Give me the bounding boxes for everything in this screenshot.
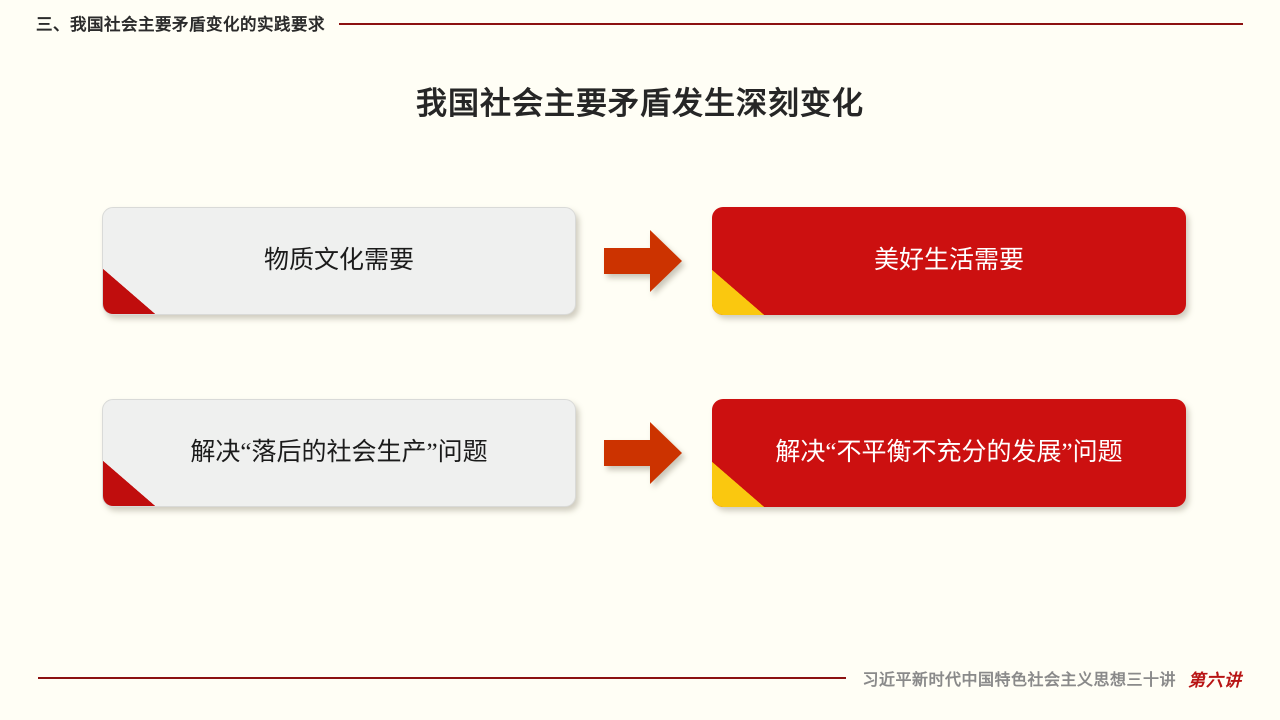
old-contradiction-card-1: 物质文化需要	[102, 207, 576, 315]
corner-triangle-icon	[103, 461, 155, 506]
lecture-badge: 第六讲	[1188, 666, 1242, 691]
card-label: 物质文化需要	[264, 246, 414, 276]
footer-divider	[38, 677, 846, 679]
card-label: 美好生活需要	[874, 246, 1024, 276]
old-contradiction-card-2: 解决“落后的社会生产”问题	[102, 399, 576, 507]
corner-triangle-icon	[712, 270, 764, 315]
corner-triangle-icon	[103, 269, 155, 314]
card-label: 解决“落后的社会生产”问题	[190, 438, 487, 468]
comparison-diagram: 物质文化需要 美好生活需要 解决“落后的社会生产”问题 解决“不平衡不充分的发展…	[0, 0, 1280, 720]
new-contradiction-card-1: 美好生活需要	[712, 207, 1186, 315]
slide: 三、我国社会主要矛盾变化的实践要求 我国社会主要矛盾发生深刻变化 物质文化需要 …	[0, 0, 1280, 720]
new-contradiction-card-2: 解决“不平衡不充分的发展”问题	[712, 399, 1186, 507]
slide-footer: 习近平新时代中国特色社会主义思想三十讲 第六讲	[0, 664, 1280, 692]
series-title: 习近平新时代中国特色社会主义思想三十讲	[862, 666, 1176, 690]
right-arrow-icon	[604, 230, 682, 292]
card-label: 解决“不平衡不充分的发展”问题	[775, 438, 1122, 468]
corner-triangle-icon	[712, 462, 764, 507]
right-arrow-icon	[604, 422, 682, 484]
